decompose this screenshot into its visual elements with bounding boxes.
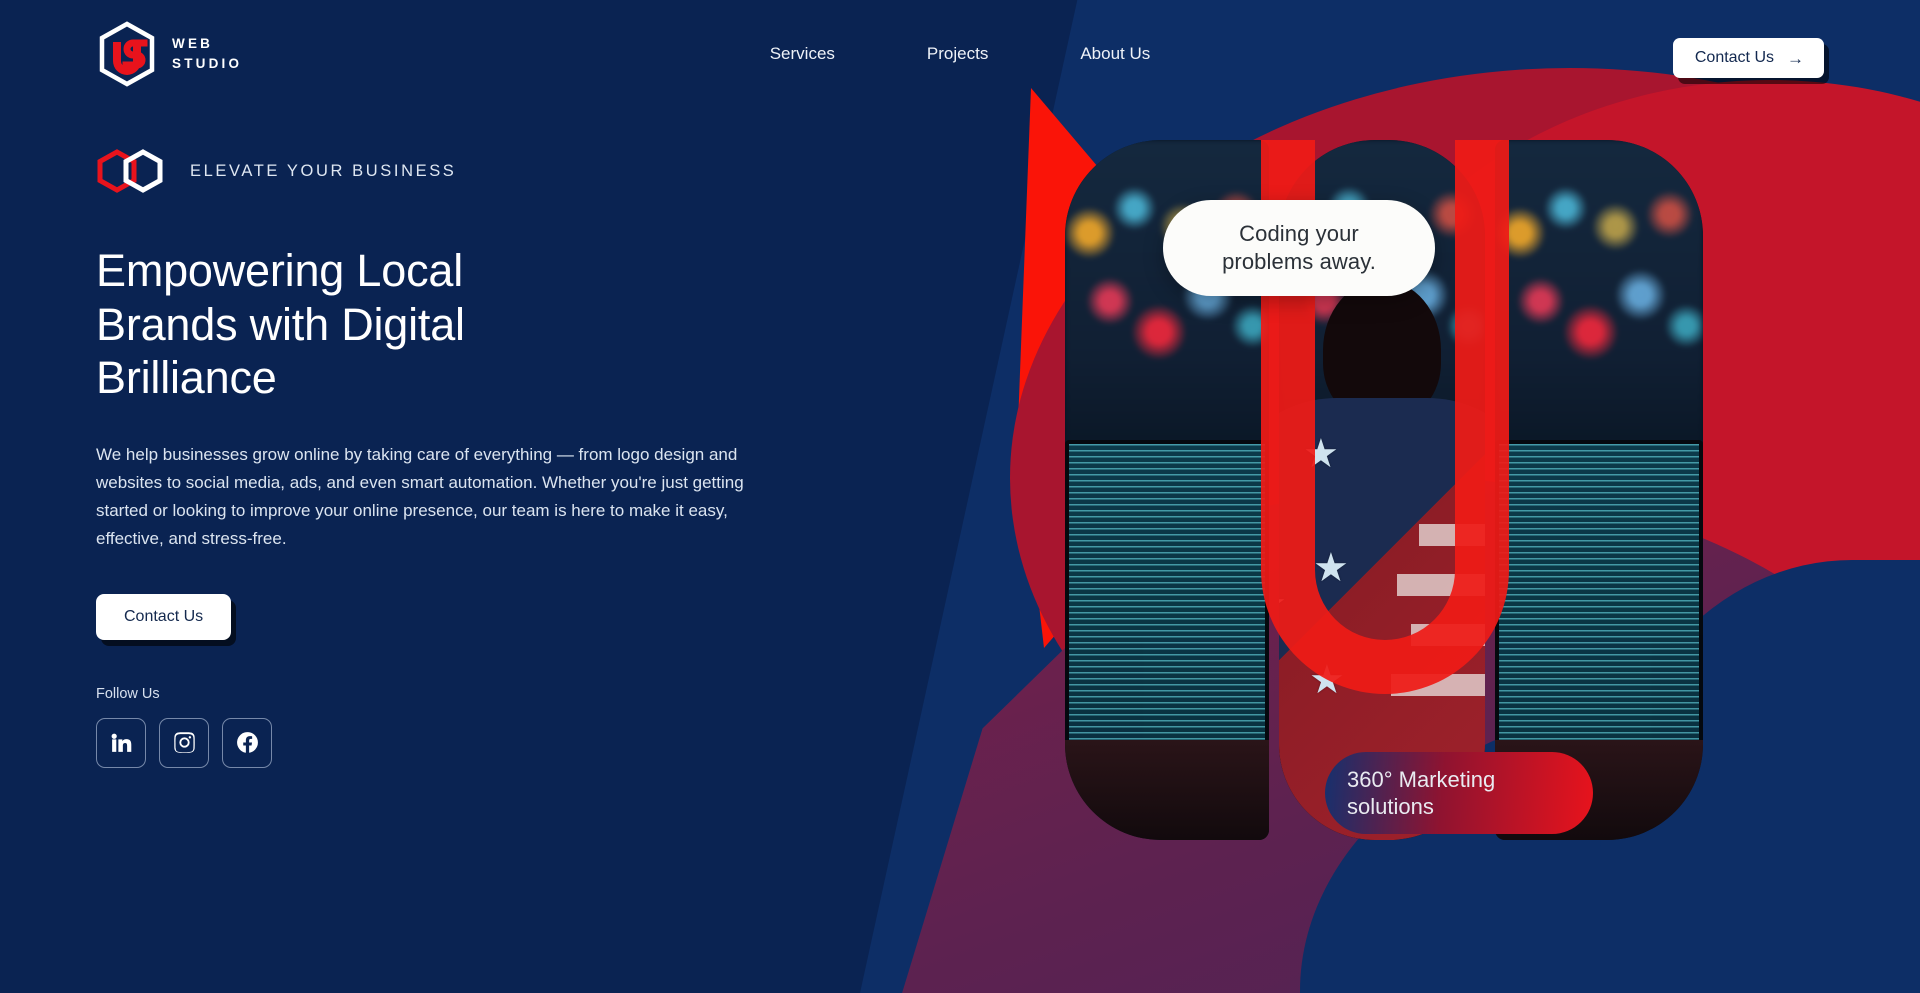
pill-line-2: solutions: [1347, 794, 1434, 819]
photo-panel-right: [1495, 140, 1703, 840]
flag-stripe: [1391, 674, 1485, 696]
hero-page: ★ ★ ★ ★ ★ ★: [0, 0, 1920, 993]
nav-item-projects[interactable]: Projects: [925, 38, 990, 70]
arrow-right-icon: →: [1787, 50, 1804, 67]
social-link-linkedin[interactable]: [96, 718, 146, 768]
nav-contact-us-button[interactable]: Contact Us →: [1673, 38, 1824, 78]
nav-item-about-us[interactable]: About Us: [1078, 38, 1152, 70]
us-hexagon-logo-icon: [96, 21, 158, 87]
social-link-facebook[interactable]: [222, 718, 272, 768]
site-logo[interactable]: WEB STUDIO: [96, 21, 242, 87]
flag-stripe: [1397, 574, 1485, 596]
nav-item-services[interactable]: Services: [768, 38, 837, 70]
bubble-line-2: problems away.: [1222, 249, 1376, 274]
hero-content: ELEVATE YOUR BUSINESS Empowering Local B…: [96, 140, 826, 768]
site-header: WEB STUDIO Services Projects About Us Co…: [0, 0, 1920, 108]
coding-callout-bubble: Coding your problems away.: [1163, 200, 1435, 296]
logo-text-line-2: STUDIO: [172, 56, 242, 71]
code-monitor: [1065, 440, 1269, 750]
hero-headline: Empowering Local Brands with Digital Bri…: [96, 244, 536, 405]
hero-description: We help businesses grow online by taking…: [96, 441, 786, 554]
flag-stripe: [1419, 524, 1485, 546]
flag-star-icon: ★: [1279, 584, 1287, 624]
main-nav: Services Projects About Us: [0, 0, 1920, 108]
flag-star-icon: ★: [1309, 660, 1345, 700]
facebook-icon: [235, 730, 260, 755]
code-monitor: [1495, 440, 1703, 750]
instagram-icon: [172, 730, 197, 755]
double-hexagon-icon: [96, 140, 168, 202]
desk-surface: [1065, 740, 1269, 840]
linkedin-icon: [109, 730, 134, 755]
social-link-instagram[interactable]: [159, 718, 209, 768]
logo-text-line-1: WEB: [172, 36, 213, 51]
hero-eyebrow: ELEVATE YOUR BUSINESS: [96, 140, 826, 202]
social-links: [96, 718, 826, 768]
neon-city-backdrop: [1495, 140, 1703, 450]
follow-us-label: Follow Us: [96, 686, 826, 702]
bubble-line-1: Coding your: [1239, 221, 1359, 246]
flag-stripe: [1411, 624, 1485, 646]
photo-scene-right: [1495, 140, 1703, 840]
hero-contact-us-button[interactable]: Contact Us: [96, 594, 231, 640]
marketing-callout-pill: 360° Marketing solutions: [1325, 752, 1593, 834]
pill-line-1: 360° Marketing: [1347, 767, 1495, 792]
hero-eyebrow-text: ELEVATE YOUR BUSINESS: [190, 162, 456, 181]
nav-contact-us-label: Contact Us: [1695, 49, 1774, 67]
flag-star-icon: ★: [1313, 548, 1349, 588]
flag-star-icon: ★: [1303, 434, 1339, 474]
